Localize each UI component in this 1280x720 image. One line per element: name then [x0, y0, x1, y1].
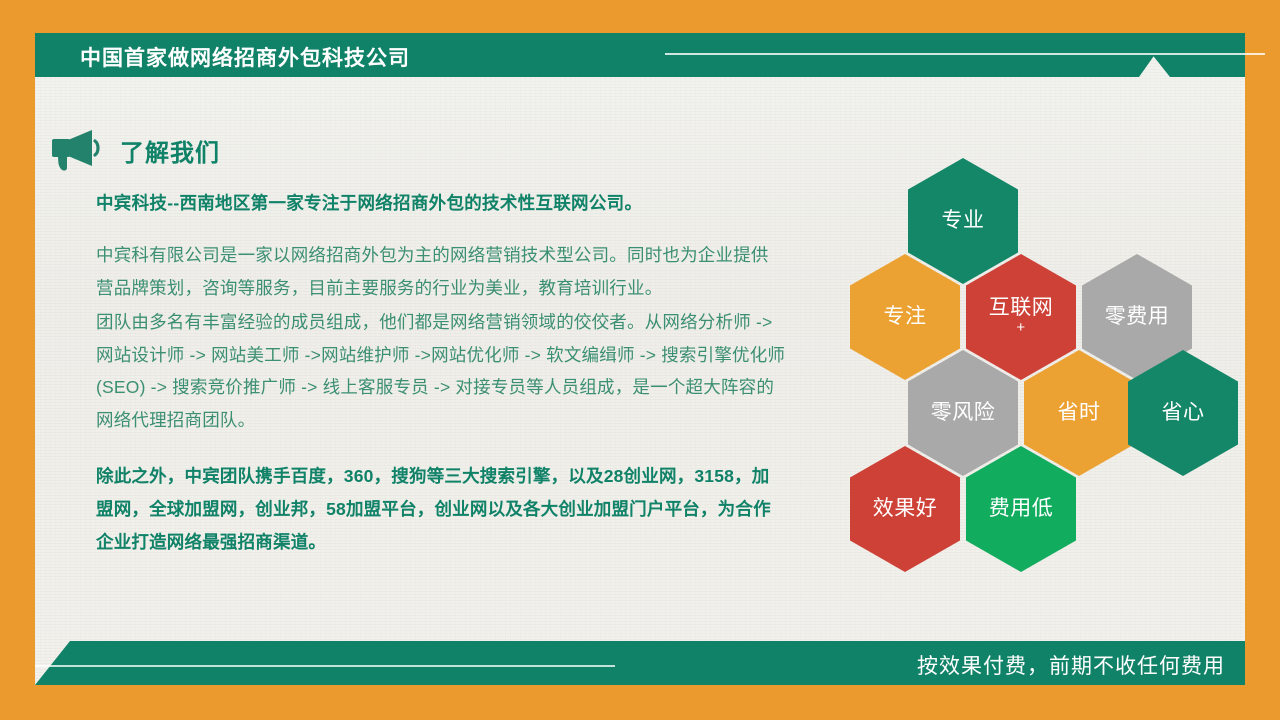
paragraph-partners: 除此之外，中宾团队携手百度，360，搜狗等三大搜索引擎，以及28创业网，3158…: [96, 460, 786, 558]
hexagon-label: 零费用: [1105, 306, 1170, 329]
header-banner: 中国首家做网络招商外包科技公司: [35, 33, 1245, 77]
hexagon-label: 专注: [884, 306, 927, 329]
hexagon-sublabel: +: [1016, 319, 1025, 337]
hexagon-cluster: 专业 专注 互联网 + 零费用 零风险 省时 省心 效果好: [836, 158, 1236, 548]
paragraph-company-intro: 中宾科有限公司是一家以网络招商外包为主的网络营销技术型公司。同时也为企业提供营品…: [96, 239, 786, 304]
hexagon-label: 省时: [1058, 402, 1101, 425]
hexagon-item: 省时: [1024, 350, 1134, 476]
slide: 中国首家做网络招商外包科技公司 了解我们 中宾科技--西南地区第一家专注于网络招…: [0, 0, 1280, 720]
header-divider-line: [665, 53, 1265, 55]
hexagon-item: 专业: [908, 158, 1018, 284]
hexagon-label: 省心: [1162, 402, 1205, 425]
lead-statement: 中宾科技--西南地区第一家专注于网络招商外包的技术性互联网公司。: [96, 190, 786, 217]
page-title: 中国首家做网络招商外包科技公司: [80, 42, 410, 72]
section-heading-label: 了解我们: [120, 133, 220, 168]
hexagon-label: 专业: [942, 210, 985, 233]
hexagon-label: 费用低: [989, 498, 1054, 521]
hexagon-label: 效果好: [873, 498, 938, 521]
hexagon-item: 专注: [850, 254, 960, 380]
megaphone-icon: [48, 128, 102, 172]
hexagon-label: 互联网: [989, 297, 1054, 320]
hexagon-item: 零风险: [908, 350, 1018, 476]
hexagon-item: 互联网 +: [966, 254, 1076, 380]
section-heading: 了解我们: [48, 128, 220, 172]
paragraph-team-roles: 团队由多名有丰富经验的成员组成，他们都是网络营销领域的佼佼者。从网络分析师 ->…: [96, 306, 786, 436]
footer-divider-line: [35, 665, 615, 667]
footer-banner: 按效果付费，前期不收任何费用: [35, 641, 1245, 685]
body-content: 中宾科技--西南地区第一家专注于网络招商外包的技术性互联网公司。 中宾科有限公司…: [96, 190, 786, 558]
hexagon-label: 零风险: [931, 402, 996, 425]
footer-tagline: 按效果付费，前期不收任何费用: [917, 650, 1225, 680]
